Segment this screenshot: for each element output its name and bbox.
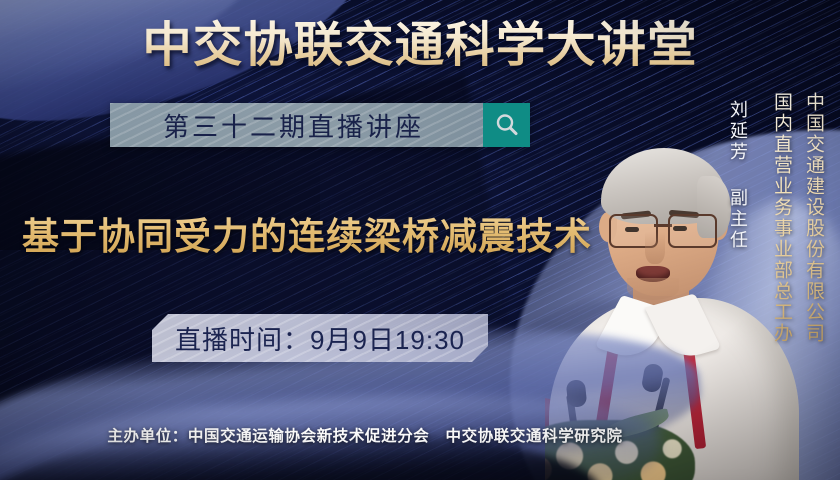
lecture-topic-title: 基于协同受力的连续梁桥减震技术 <box>22 206 602 260</box>
speaker-role: 副主任 <box>726 188 750 251</box>
speaker-company: 中国交通建设股份有限公司 <box>801 92 826 344</box>
broadcast-time-label: 直播时间：9月9日19:30 <box>175 320 465 357</box>
broadcast-time-banner: 直播时间：9月9日19:30 <box>152 314 488 362</box>
subtitle-bar: 第三十二期直播讲座 <box>110 103 530 147</box>
page-title: 中交协联交通科学大讲堂 <box>119 18 721 73</box>
speaker-nose <box>645 232 665 264</box>
eyeglass-lens-right <box>668 214 717 248</box>
speaker-department: 国内直营业务事业部总工办 <box>769 92 794 344</box>
speaker-chin <box>627 278 679 300</box>
live-stream-poster: 中交协联交通科学大讲堂 第三十二期直播讲座 基于协同受力的连续梁桥减震技术 直播… <box>0 0 840 480</box>
search-icon <box>494 112 520 138</box>
search-button[interactable] <box>483 103 530 147</box>
speaker-name: 刘延芳 <box>726 100 750 163</box>
subtitle-label: 第三十二期直播讲座 <box>110 103 483 147</box>
organizer-footer: 主办单位：中国交通运输协会新技术促进分会 中交协联交通科学研究院 <box>0 424 730 446</box>
